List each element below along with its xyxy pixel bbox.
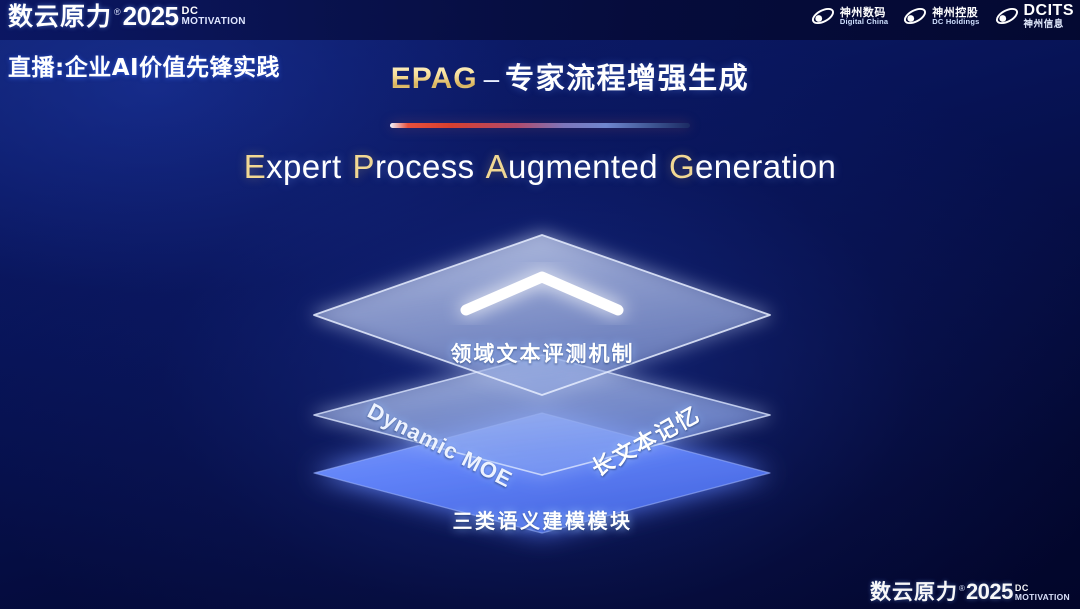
- subtitle-word-process: Process: [353, 148, 475, 185]
- slide-canvas: 数云原力 ® 2025 DC MOTIVATION 直播:企业AI价值先锋实践 …: [0, 0, 1080, 609]
- swoosh-icon: [902, 5, 928, 27]
- registered-mark: ®: [114, 8, 121, 17]
- subtitle-word-expert: Expert: [244, 148, 342, 185]
- partner-logo-dcits: DCITS 神州信息: [994, 3, 1075, 30]
- title-dash: –: [484, 63, 500, 94]
- partner-logo-dc-holdings: 神州控股 DC Holdings: [902, 5, 979, 27]
- subtitle-word-augmented: Augmented: [486, 148, 658, 185]
- swoosh-icon: [810, 5, 836, 27]
- subtitle-cap-a: A: [486, 148, 508, 185]
- layered-architecture-diagram: 领域文本评测机制 Dynamic MOE 长文本记忆 三类语义建模模块: [270, 215, 815, 585]
- partner-logo-digital-china: 神州数码 Digital China: [810, 5, 888, 27]
- title-acronym: EPAG: [391, 62, 478, 95]
- partner-name-en-0: Digital China: [840, 18, 888, 26]
- brand-motivation: MOTIVATION: [182, 17, 246, 27]
- brand-watermark: 数云原力 ® 2025 DC MOTIVATION: [870, 581, 1070, 603]
- subtitle-word-generation: Generation: [669, 148, 836, 185]
- brand-name-cn: 数云原力: [8, 4, 112, 29]
- subtitle-rest-p: rocess: [375, 148, 475, 185]
- partner-logo-group: 神州数码 Digital China 神州控股 DC Holdings DCIT…: [810, 3, 1074, 30]
- partner-name-en-2: DCITS: [1024, 3, 1075, 20]
- subtitle: ExpertProcessAugmentedGeneration: [0, 148, 1080, 186]
- partner-name-en-1: DC Holdings: [932, 18, 979, 26]
- watermark-reg-mark: ®: [959, 585, 965, 593]
- watermark-name-cn: 数云原力: [870, 582, 958, 603]
- title-chinese: 专家流程增强生成: [505, 61, 749, 95]
- watermark-motivation: MOTIVATION: [1015, 593, 1070, 602]
- subtitle-rest-g: eneration: [695, 148, 836, 185]
- gradient-divider: [390, 123, 690, 128]
- subtitle-cap-p: P: [353, 148, 375, 185]
- subtitle-rest-a: ugmented: [508, 148, 658, 185]
- watermark-year: 2025: [966, 581, 1013, 603]
- layer-top-shape: [314, 235, 770, 395]
- partner-name-cn-2: 神州信息: [1024, 20, 1075, 30]
- subtitle-cap-g: G: [669, 148, 695, 185]
- subtitle-rest-e: xpert: [266, 148, 341, 185]
- brand-year: 2025: [123, 3, 179, 29]
- subtitle-cap-e: E: [244, 148, 266, 185]
- diagram-svg: [270, 215, 815, 585]
- live-stream-title: 直播:企业AI价值先锋实践: [8, 48, 280, 82]
- swoosh-icon: [994, 5, 1020, 27]
- brand-logo: 数云原力 ® 2025 DC MOTIVATION: [8, 3, 246, 29]
